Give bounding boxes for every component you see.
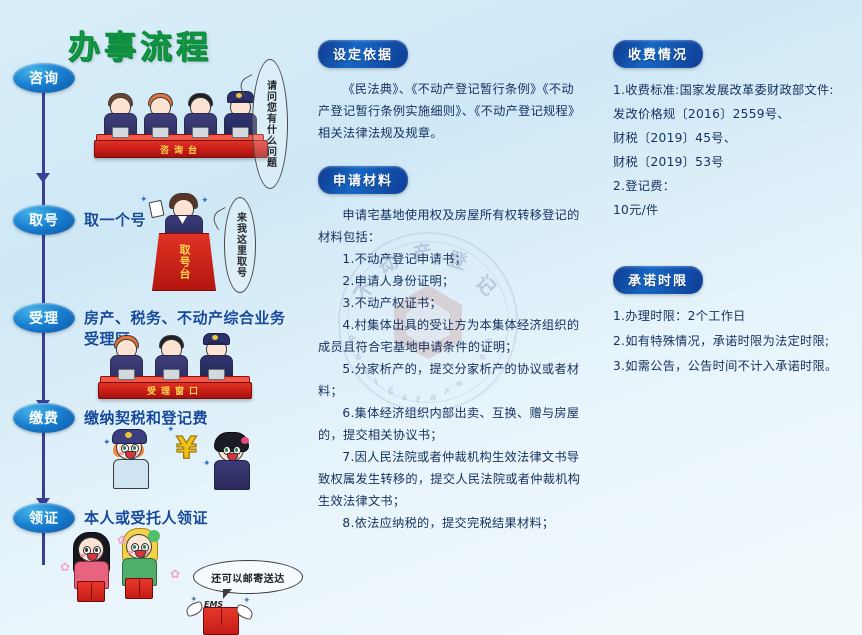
fee-line: 2.登记费：: [613, 174, 857, 198]
ems-label: EMS: [204, 600, 223, 609]
fee-line: 财税〔2019〕45号、: [613, 126, 857, 150]
ems-envelope-icon: [203, 607, 239, 635]
deadline-line: 1.办理时限：2个工作日: [613, 304, 857, 329]
step-badge-receive: 领证: [13, 503, 75, 533]
material-item: 6.集体经济组织内部出卖、互换、赠与房屋的，提交相关协议书；: [318, 402, 586, 446]
column-right: 收费情况 1.收费标准:国家发展改革委财政部文件: 发改价格规〔2016〕255…: [613, 40, 857, 379]
fee-line: 1.收费标准:国家发展改革委财政部文件:: [613, 78, 857, 102]
desk-label-accept: 受理窗口: [98, 382, 252, 399]
flow-step-accept[interactable]: 受理 房产、税务、不动产综合业务受理区: [0, 303, 300, 337]
deadline-line: 3.如需公告，公告时间不计入承诺时限。: [613, 354, 857, 379]
section-heading-deadline: 承诺时限: [613, 266, 703, 294]
section-heading-fees: 收费情况: [613, 40, 703, 68]
flow-step-payment[interactable]: 缴费 缴纳契税和登记费: [0, 403, 300, 437]
section-body-deadline: 1.办理时限：2个工作日 2.如有特殊情况，承诺时限为法定时限; 3.如需公告，…: [613, 304, 857, 379]
speech-bubble-mail-tail: [223, 589, 232, 599]
process-flow: 咨询 咨询台: [0, 55, 300, 625]
section-fees: 收费情况 1.收费标准:国家发展改革委财政部文件: 发改价格规〔2016〕255…: [613, 40, 857, 222]
flow-arrow-1: [36, 173, 50, 183]
step-badge-payment: 缴费: [13, 403, 75, 433]
currency-symbol: ¥: [176, 431, 197, 466]
column-middle: 设定依据 《民法典》、《不动产登记暂行条例》《不动产登记暂行条例实施细则》、《不…: [318, 40, 586, 534]
poster-root: 办事流程 咨询: [0, 0, 862, 635]
material-item: 2.申请人身份证明；: [318, 270, 586, 292]
step-text-payment: 缴纳契税和登记费: [84, 407, 208, 428]
step-badge-consult: 咨询: [13, 63, 75, 93]
section-body-materials: 申请宅基地使用权及房屋所有权转移登记的材料包括： 1.不动产登记申请书； 2.申…: [318, 204, 586, 534]
section-body-basis: 《民法典》、《不动产登记暂行条例》《不动产登记暂行条例实施细则》、《不动产登记规…: [318, 78, 586, 144]
step-text-ticket: 取一个号: [84, 209, 146, 230]
fee-line: 10元/件: [613, 198, 857, 222]
step-badge-accept: 受理: [13, 303, 75, 333]
speech-bubble-consult: 请问您有什么问题: [252, 59, 288, 189]
speech-bubble-ticket: 来我这里取号: [224, 197, 256, 293]
material-item: 7.因人民法院或者仲裁机构生效法律文书导致权属发生转移的，提交人民法院或者仲裁机…: [318, 446, 586, 512]
desk-label-consult: 咨询台: [94, 140, 268, 158]
material-item: 3.不动产权证书；: [318, 292, 586, 314]
section-heading-basis: 设定依据: [318, 40, 408, 68]
fee-line: 财税〔2019〕53号: [613, 150, 857, 174]
deadline-line: 2.如有特殊情况，承诺时限为法定时限;: [613, 329, 857, 354]
material-item: 8.依法应纳税的，提交完税结果材料；: [318, 512, 586, 534]
material-item: 4.村集体出具的受让方为本集体经济组织的成员且符合宅基地申请条件的证明；: [318, 314, 586, 358]
step-badge-ticket: 取号: [13, 205, 75, 235]
fee-line: 发改价格规〔2016〕2559号、: [613, 102, 857, 126]
step-text-receive: 本人或受托人领证: [84, 507, 208, 528]
section-basis: 设定依据 《民法典》、《不动产登记暂行条例》《不动产登记暂行条例实施细则》、《不…: [318, 40, 586, 144]
desk-label-ticket: 取号台: [152, 233, 216, 291]
section-heading-materials: 申请材料: [318, 166, 408, 194]
speech-bubble-mail: 还可以邮寄送达: [193, 560, 303, 594]
section-body-fees: 1.收费标准:国家发展改革委财政部文件: 发改价格规〔2016〕2559号、 财…: [613, 78, 857, 222]
section-materials: 申请材料 申请宅基地使用权及房屋所有权转移登记的材料包括： 1.不动产登记申请书…: [318, 166, 586, 534]
section-deadline: 承诺时限 1.办理时限：2个工作日 2.如有特殊情况，承诺时限为法定时限; 3.…: [613, 266, 857, 379]
material-item: 5.分家析产的，提交分家析产的协议或者材料；: [318, 358, 586, 402]
material-item: 1.不动产登记申请书；: [318, 248, 586, 270]
